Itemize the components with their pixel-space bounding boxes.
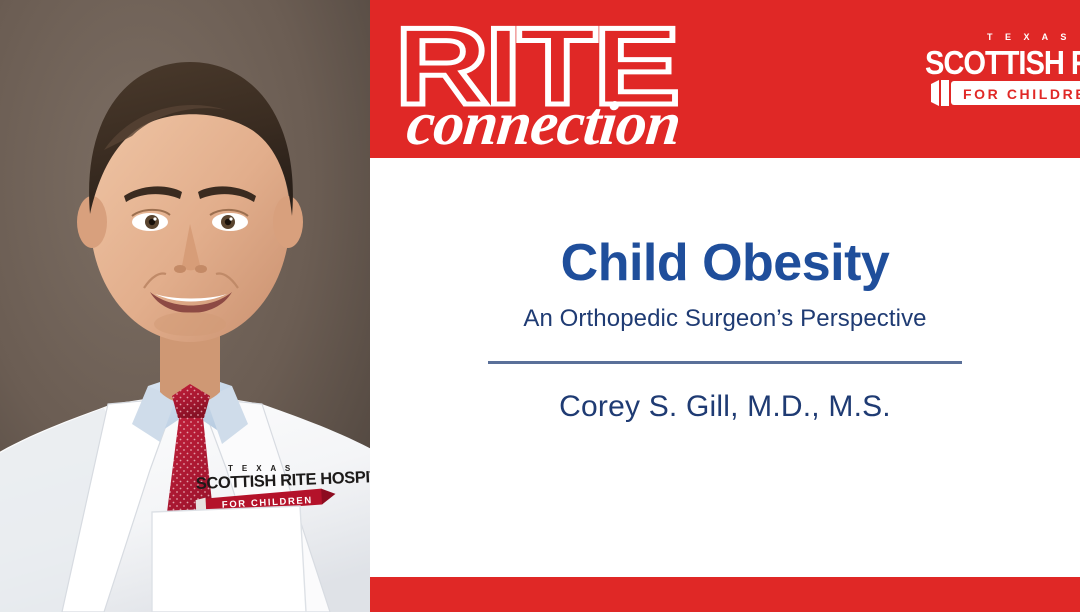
hospital-logo-main: SCOTTISH RITE HOS xyxy=(925,44,1080,81)
page-subtitle: An Orthopedic Surgeon’s Perspective xyxy=(370,291,1080,333)
presentation-slide: T E X A S SCOTTISH RITE HOSPITAL FOR CHI… xyxy=(0,0,1080,612)
footer-accent-bar xyxy=(370,577,1080,612)
coat-pocket xyxy=(152,506,306,612)
hospital-logo: T E X A S SCOTTISH RITE HOS FOR CHILDREN xyxy=(925,22,1080,132)
crayon-band: FOR CHILDREN xyxy=(931,80,1080,106)
rite-connection-banner: RITE connection T E X A S SCOTTISH RITE … xyxy=(370,0,1080,158)
speaker-portrait-illustration: T E X A S SCOTTISH RITE HOSPITAL FOR CHI… xyxy=(0,0,370,612)
masthead-connection-text: connection xyxy=(404,90,684,154)
hospital-logo-band: FOR CHILDREN xyxy=(963,86,1080,102)
presenter-byline: Corey S. Gill, M.D., M.S. xyxy=(370,364,1080,424)
page-title: Child Obesity xyxy=(370,158,1080,291)
speaker-photo: T E X A S SCOTTISH RITE HOSPITAL FOR CHI… xyxy=(0,0,370,612)
slide-content: Child Obesity An Orthopedic Surgeon’s Pe… xyxy=(370,158,1080,577)
title-block: Child Obesity An Orthopedic Surgeon’s Pe… xyxy=(370,158,1080,424)
masthead-logo: RITE connection xyxy=(388,4,818,154)
hospital-logo-texas: T E X A S xyxy=(987,32,1071,42)
